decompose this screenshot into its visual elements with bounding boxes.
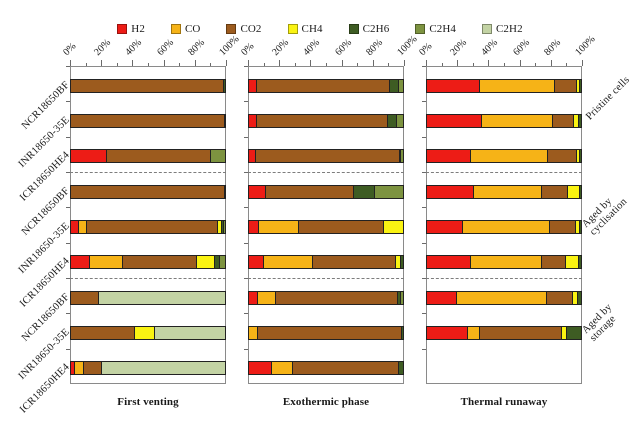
stacked-bar <box>426 114 582 128</box>
legend-label: C2H4 <box>429 24 456 35</box>
x-tick <box>582 60 583 66</box>
legend-item-c2h2: C2H2 <box>482 24 523 35</box>
x-tick <box>195 60 196 66</box>
bar-segment-co <box>470 150 547 162</box>
bar-segment-c2h6 <box>579 186 581 198</box>
stacked-bar <box>426 220 582 234</box>
x-tick-label: 20% <box>270 37 291 58</box>
y-tick <box>66 243 70 244</box>
legend-swatch-ch4-icon <box>288 24 298 34</box>
bar-segment-c2h6 <box>223 80 225 92</box>
bar-segment-c2h4 <box>400 292 403 304</box>
stacked-bar <box>70 149 226 163</box>
group-label: Pristine cells <box>584 74 632 122</box>
stacked-bar <box>70 361 226 375</box>
y-tick <box>422 101 426 102</box>
x-tick-label: 20% <box>448 37 469 58</box>
bar-segment-c2h6 <box>577 292 581 304</box>
x-tick <box>426 60 427 66</box>
bar-segment-c2h6 <box>578 115 581 127</box>
legend-label: CO <box>185 24 200 35</box>
x-tick <box>148 63 149 66</box>
bar-segment-co <box>74 362 82 374</box>
stacked-bar <box>70 326 226 340</box>
bar-segment-c2h6 <box>579 150 581 162</box>
bar-segment-co2 <box>479 327 561 339</box>
group-separator <box>248 278 404 279</box>
legend-swatch-c2h2-icon <box>482 24 492 34</box>
bar-segment-c2h6 <box>400 256 403 268</box>
bar-segment-c2h6 <box>401 327 403 339</box>
group-label: Aged by storage <box>580 284 639 343</box>
bar-segment-co2 <box>83 362 101 374</box>
bar-segment-c2h4 <box>400 150 403 162</box>
bar-segment-h2 <box>427 80 479 92</box>
y-tick <box>66 207 70 208</box>
panel-caption: First venting <box>70 396 226 408</box>
stacked-bar <box>248 220 404 234</box>
bar-segment-c2h6 <box>566 327 581 339</box>
stacked-bar <box>426 149 582 163</box>
bar-segment-h2 <box>249 292 257 304</box>
x-tick-label: 40% <box>124 37 145 58</box>
bar-segment-co <box>456 292 545 304</box>
bar-segment-co <box>89 256 121 268</box>
x-axis-ticks <box>426 60 582 66</box>
x-tick <box>488 60 489 66</box>
x-tick <box>264 63 265 66</box>
x-tick <box>279 60 280 66</box>
legend-swatch-c2h6-icon <box>349 24 359 34</box>
legend-swatch-c2h4-icon <box>415 24 425 34</box>
bar-segment-c2h6 <box>224 186 225 198</box>
bar-segment-h2 <box>249 256 263 268</box>
bar-segment-h2 <box>249 80 256 92</box>
bar-segment-co2 <box>71 292 98 304</box>
x-tick <box>373 60 374 66</box>
bar-segment-co <box>473 186 541 198</box>
bar-segment-co2 <box>541 186 567 198</box>
bar-segment-co2 <box>552 115 574 127</box>
bar-segment-c2h6 <box>579 80 581 92</box>
bar-segment-h2 <box>249 362 271 374</box>
y-tick <box>244 101 248 102</box>
x-tick <box>504 63 505 66</box>
bar-segment-c2h4 <box>398 80 403 92</box>
x-tick <box>457 60 458 66</box>
group-separator <box>70 278 226 279</box>
bar-segment-co2 <box>546 292 572 304</box>
stacked-bar <box>248 114 404 128</box>
x-tick-label: 60% <box>155 37 176 58</box>
bar-segment-c2h4 <box>210 150 225 162</box>
stacked-bar <box>248 361 404 375</box>
x-tick-label: 0% <box>61 41 78 58</box>
bar-segment-ch4 <box>567 186 579 198</box>
x-tick <box>520 60 521 66</box>
legend-label: CH4 <box>302 24 323 35</box>
group-label: Aged by cyclisation <box>580 178 639 237</box>
x-tick <box>226 60 227 66</box>
x-tick <box>342 60 343 66</box>
stacked-bar <box>426 185 582 199</box>
x-tick <box>326 63 327 66</box>
bar-segment-co2 <box>71 115 224 127</box>
x-tick <box>295 63 296 66</box>
bar-segment-c2h4 <box>374 186 402 198</box>
bar-segment-co2 <box>71 80 223 92</box>
bar-segment-c2h2 <box>154 327 225 339</box>
bar-segment-h2 <box>71 221 78 233</box>
x-tick <box>164 60 165 66</box>
x-tick <box>566 63 567 66</box>
bar-segment-co <box>462 221 548 233</box>
x-tick-label: 20% <box>92 37 113 58</box>
x-tick-label: 60% <box>333 37 354 58</box>
stacked-bar <box>70 255 226 269</box>
bar-segment-c2h6 <box>389 80 398 92</box>
bar-segment-co2 <box>549 221 575 233</box>
panel-caption: Exothermic phase <box>248 396 404 408</box>
x-tick <box>388 63 389 66</box>
stacked-bar <box>70 185 226 199</box>
bar-segment-h2 <box>249 115 256 127</box>
legend-item-co2: CO2 <box>226 24 261 35</box>
bar-segment-h2 <box>427 150 470 162</box>
x-tick <box>473 63 474 66</box>
panel-exothermic-phase: 0%20%40%60%80%100% <box>248 66 404 384</box>
y-tick <box>244 349 248 350</box>
bar-segment-h2 <box>71 256 89 268</box>
stacked-bar <box>248 326 404 340</box>
bar-segment-h2 <box>427 186 473 198</box>
bar-segment-c2h4 <box>223 221 225 233</box>
bar-segment-co <box>481 115 552 127</box>
bar-segment-co <box>78 221 86 233</box>
x-tick <box>86 63 87 66</box>
bar-segment-h2 <box>427 292 456 304</box>
stacked-bar <box>248 79 404 93</box>
bar-segment-co2 <box>541 256 565 268</box>
chart-legend: H2COCO2CH4C2H6C2H4C2H2 <box>0 20 640 38</box>
stacked-bar <box>248 291 404 305</box>
y-tick <box>422 313 426 314</box>
x-tick-label: 80% <box>542 37 563 58</box>
bar-segment-co2 <box>256 115 387 127</box>
y-tick <box>422 137 426 138</box>
x-tick-label: 0% <box>239 41 256 58</box>
stacked-bar <box>248 255 404 269</box>
x-tick <box>551 60 552 66</box>
x-tick-label: 40% <box>302 37 323 58</box>
stacked-bar <box>248 185 404 199</box>
x-tick <box>132 60 133 66</box>
bar-segment-co <box>263 256 312 268</box>
bar-segment-co2 <box>298 221 383 233</box>
legend-item-c2h6: C2H6 <box>349 24 390 35</box>
x-tick-label: 0% <box>417 41 434 58</box>
stacked-bar <box>426 291 582 305</box>
y-tick <box>244 313 248 314</box>
y-tick <box>244 137 248 138</box>
panel-caption: Thermal runaway <box>426 396 582 408</box>
x-tick-label: 40% <box>480 37 501 58</box>
x-tick <box>117 63 118 66</box>
bar-segment-c2h6 <box>578 256 581 268</box>
x-tick <box>70 60 71 66</box>
group-separator <box>70 172 226 173</box>
y-tick <box>66 313 70 314</box>
legend-label: CO2 <box>240 24 261 35</box>
x-axis-ticks <box>248 60 404 66</box>
bar-segment-h2 <box>427 115 481 127</box>
x-tick <box>210 63 211 66</box>
legend-item-co: CO <box>171 24 200 35</box>
y-tick <box>244 66 248 67</box>
x-tick <box>179 63 180 66</box>
bar-segment-h2 <box>427 327 467 339</box>
legend-swatch-co-icon <box>171 24 181 34</box>
legend-item-ch4: CH4 <box>288 24 323 35</box>
stacked-bar <box>70 220 226 234</box>
stacked-bar <box>70 79 226 93</box>
x-tick <box>357 63 358 66</box>
bar-segment-co2 <box>106 150 209 162</box>
bar-segment-co2 <box>122 256 196 268</box>
x-tick <box>404 60 405 66</box>
stacked-bar <box>426 255 582 269</box>
bar-segment-co <box>479 80 554 92</box>
bar-segment-co <box>271 362 293 374</box>
group-separator <box>426 278 582 279</box>
y-tick <box>422 349 426 350</box>
bar-segment-co <box>249 327 257 339</box>
y-tick <box>66 137 70 138</box>
x-tick-label: 80% <box>186 37 207 58</box>
panel-thermal-runaway: 0%20%40%60%80%100% <box>426 66 582 384</box>
legend-label: C2H6 <box>363 24 390 35</box>
bar-segment-ch4 <box>565 256 578 268</box>
legend-label: C2H2 <box>496 24 523 35</box>
bar-segment-h2 <box>71 150 106 162</box>
legend-swatch-h2-icon <box>117 24 127 34</box>
x-tick-label: 60% <box>511 37 532 58</box>
y-tick <box>244 207 248 208</box>
stacked-bar <box>426 326 582 340</box>
legend-item-c2h4: C2H4 <box>415 24 456 35</box>
bar-segment-c2h6 <box>224 115 225 127</box>
bar-segment-co2 <box>255 150 399 162</box>
bar-segment-co <box>470 256 541 268</box>
y-tick <box>422 207 426 208</box>
panel-first-venting: 0%20%40%60%80%100% <box>70 66 226 384</box>
bar-segment-c2h6 <box>353 186 375 198</box>
legend-item-h2: H2 <box>117 24 145 35</box>
bar-segment-co2 <box>292 362 398 374</box>
bar-segment-ch4 <box>134 327 154 339</box>
bar-segment-h2 <box>427 256 470 268</box>
y-tick <box>422 243 426 244</box>
stacked-bar <box>426 79 582 93</box>
bar-segment-co2 <box>265 186 353 198</box>
y-tick <box>66 101 70 102</box>
stacked-bar <box>70 291 226 305</box>
bar-segment-c2h2 <box>98 292 225 304</box>
bar-segment-h2 <box>249 186 265 198</box>
y-tick <box>244 243 248 244</box>
bar-segment-c2h4 <box>396 115 403 127</box>
bar-segment-co2 <box>256 80 389 92</box>
bar-segment-co2 <box>71 327 134 339</box>
bar-segment-c2h4 <box>219 256 225 268</box>
bar-segment-c2h6 <box>387 115 396 127</box>
stacked-bar <box>70 114 226 128</box>
bar-segment-h2 <box>427 221 462 233</box>
bar-segment-ch4 <box>196 256 214 268</box>
bar-segment-co2 <box>312 256 395 268</box>
group-separator <box>248 172 404 173</box>
bar-segment-co2 <box>86 221 217 233</box>
x-tick <box>442 63 443 66</box>
x-tick <box>248 60 249 66</box>
y-tick <box>422 66 426 67</box>
legend-label: H2 <box>131 24 145 35</box>
x-tick-label: 80% <box>364 37 385 58</box>
bar-segment-c2h6 <box>398 362 403 374</box>
x-axis-ticks <box>70 60 226 66</box>
bar-segment-co <box>258 221 298 233</box>
group-separator <box>426 172 582 173</box>
legend-swatch-co2-icon <box>226 24 236 34</box>
stacked-bar <box>248 149 404 163</box>
bar-segment-co2 <box>554 80 576 92</box>
y-tick <box>66 349 70 350</box>
x-tick <box>310 60 311 66</box>
bar-segment-co2 <box>71 186 224 198</box>
bar-segment-co2 <box>547 150 575 162</box>
bar-segment-co <box>257 292 275 304</box>
x-tick <box>535 63 536 66</box>
bar-segment-co2 <box>257 327 400 339</box>
bar-segment-co <box>467 327 479 339</box>
figure-root: H2COCO2CH4C2H6C2H4C2H2 0%20%40%60%80%100… <box>0 0 640 440</box>
bar-segment-ch4 <box>383 221 403 233</box>
y-tick <box>66 66 70 67</box>
x-tick <box>101 60 102 66</box>
bar-segment-c2h2 <box>101 362 225 374</box>
bar-segment-co2 <box>275 292 397 304</box>
bar-segment-h2 <box>249 221 258 233</box>
